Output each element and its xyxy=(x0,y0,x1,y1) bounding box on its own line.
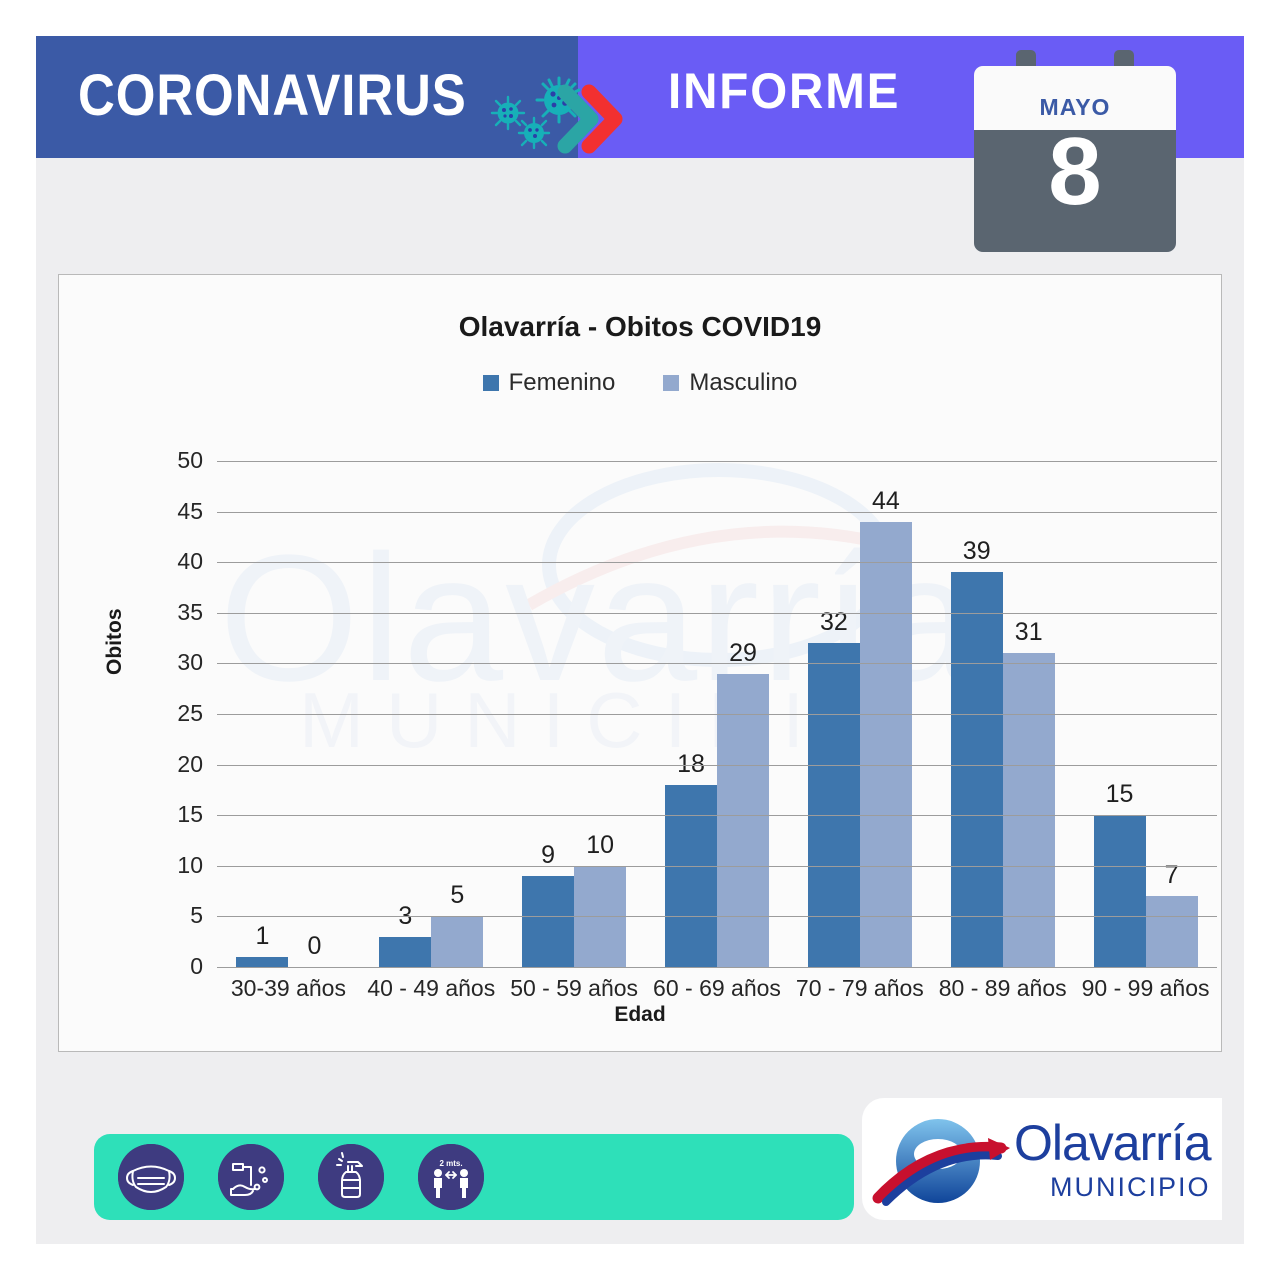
gridline xyxy=(217,512,1217,513)
y-axis-tick: 15 xyxy=(143,801,203,828)
calendar-day: 8 xyxy=(974,124,1176,220)
gridline xyxy=(217,663,1217,664)
chart-panel: Olavarría MUNICIPIO Olavarría - Obitos C… xyxy=(58,274,1222,1052)
logo-name: Olavarría xyxy=(1014,1114,1211,1172)
report-label: INFORME xyxy=(668,62,900,120)
y-axis-tick: 25 xyxy=(143,700,203,727)
bar-masculino-1[interactable] xyxy=(431,916,483,967)
y-axis-tick: 10 xyxy=(143,852,203,879)
distance-text: 2 mts. xyxy=(439,1159,462,1168)
olavarria-swoosh-icon xyxy=(876,1106,1016,1216)
gridline xyxy=(217,765,1217,766)
calendar-icon: MAYO 8 xyxy=(974,50,1176,250)
calendar-month: MAYO xyxy=(974,94,1176,121)
x-axis-tick: 60 - 69 años xyxy=(646,975,789,1002)
bar-femenino-6[interactable] xyxy=(1094,815,1146,967)
y-axis-tick: 45 xyxy=(143,498,203,525)
bar-value-label: 15 xyxy=(1085,780,1155,809)
y-axis-tick: 40 xyxy=(143,548,203,575)
hand-washing-icon xyxy=(218,1144,284,1210)
header-banner: CORONAVIRUS xyxy=(36,36,1244,158)
bar-value-label: 31 xyxy=(994,618,1064,647)
x-axis-label: Edad xyxy=(59,1003,1221,1027)
gridline xyxy=(217,562,1217,563)
x-axis-tick: 90 - 99 años xyxy=(1074,975,1217,1002)
bar-femenino-1[interactable] xyxy=(379,937,431,967)
logo-subtitle: MUNICIPIO xyxy=(1050,1172,1211,1203)
x-axis-tick: 30-39 años xyxy=(217,975,360,1002)
municipality-logo: Olavarría MUNICIPIO xyxy=(862,1098,1222,1220)
bar-value-label: 0 xyxy=(279,932,349,961)
x-axis-ticks: 30-39 años40 - 49 años50 - 59 años60 - 6… xyxy=(217,975,1217,1005)
x-axis-tick: 70 - 79 años xyxy=(788,975,931,1002)
x-axis-tick: 40 - 49 años xyxy=(360,975,503,1002)
y-axis-label: Obitos xyxy=(103,609,127,676)
gridline xyxy=(217,815,1217,816)
face-mask-icon xyxy=(118,1144,184,1210)
sanitizer-spray-icon xyxy=(318,1144,384,1210)
bar-value-label: 5 xyxy=(422,881,492,910)
gridline xyxy=(217,967,1217,968)
gridline xyxy=(217,613,1217,614)
chevron-right-icon xyxy=(561,88,641,150)
bar-femenino-2[interactable] xyxy=(522,876,574,967)
y-axis-tick: 50 xyxy=(143,447,203,474)
y-axis-tick: 5 xyxy=(143,902,203,929)
bar-femenino-3[interactable] xyxy=(665,785,717,967)
gridline xyxy=(217,866,1217,867)
gridline xyxy=(217,916,1217,917)
bar-masculino-5[interactable] xyxy=(1003,653,1055,967)
y-axis-tick: 0 xyxy=(143,953,203,980)
gridline xyxy=(217,461,1217,462)
prevention-bar: 2 mts. xyxy=(94,1134,854,1220)
grid-area: 1035910182932443931157 05101520253035404… xyxy=(217,461,1217,967)
bar-masculino-4[interactable] xyxy=(860,522,912,967)
page-title: CORONAVIRUS xyxy=(78,62,467,129)
y-axis-tick: 30 xyxy=(143,649,203,676)
plot-area: Obitos 1035910182932443931157 0510152025… xyxy=(59,275,1221,1051)
x-axis-tick: 80 - 89 años xyxy=(931,975,1074,1002)
bar-masculino-6[interactable] xyxy=(1146,896,1198,967)
y-axis-tick: 20 xyxy=(143,751,203,778)
y-axis-tick: 35 xyxy=(143,599,203,626)
x-axis-tick: 50 - 59 años xyxy=(503,975,646,1002)
gridline xyxy=(217,714,1217,715)
social-distancing-icon: 2 mts. xyxy=(418,1144,484,1210)
poster-canvas: CORONAVIRUS xyxy=(36,36,1244,1244)
bar-femenino-4[interactable] xyxy=(808,643,860,967)
bar-masculino-3[interactable] xyxy=(717,674,769,967)
bar-value-label: 10 xyxy=(565,831,635,860)
